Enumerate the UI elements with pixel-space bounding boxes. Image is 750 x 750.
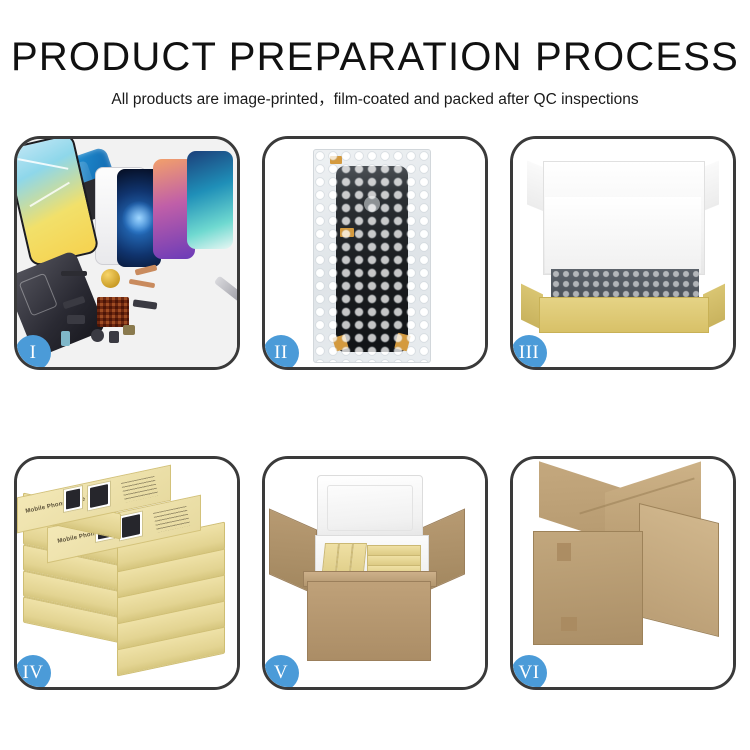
carton-tape-lower <box>561 617 577 631</box>
box-front-yellow <box>539 297 709 333</box>
panel-parts-overview: I <box>14 136 240 370</box>
step-badge-3: III <box>513 335 547 367</box>
part-sim-tray <box>61 331 70 346</box>
tape-middle <box>340 228 354 237</box>
panel-image-carton-with-foam: V <box>265 459 485 687</box>
page-subtitle: All products are image-printed，film-coat… <box>0 87 750 109</box>
tape-bottom-right <box>394 333 410 352</box>
panel-image-open-yellow-box: III <box>513 139 733 367</box>
step-badge-4: IV <box>17 655 51 687</box>
panel-image-stacked-boxes: Mobile Phone Spare Parts Mobile Phone Sp… <box>17 459 237 687</box>
page-title: PRODUCT PREPARATION PROCESS <box>0 36 750 78</box>
box-window-1a <box>63 485 83 513</box>
process-grid: I II <box>14 136 736 690</box>
phone-display-teal-wallpaper <box>187 151 233 249</box>
part-vibrator <box>123 325 135 335</box>
panel-stacked-boxes: Mobile Phone Spare Parts Mobile Phone Sp… <box>14 456 240 690</box>
box-foam-sheet <box>545 197 701 273</box>
step-badge-6: VI <box>513 655 547 687</box>
carton-tape-upper <box>557 543 571 561</box>
step-badge-2: II <box>265 335 299 367</box>
panel-image-sealed-carton: VI <box>513 459 733 687</box>
panel-sealed-carton: VI <box>510 456 736 690</box>
box-window-2b <box>119 510 143 541</box>
carton-right-face <box>639 503 719 637</box>
part-camera-ring <box>91 329 104 342</box>
part-smd-4 <box>109 331 119 343</box>
panel-image-bubble-wrapped-screen: II <box>265 139 485 367</box>
foam-cooler-lid <box>317 475 423 541</box>
header: PRODUCT PREPARATION PROCESS All products… <box>0 0 750 109</box>
panel-bubble-wrapped-screen: II <box>262 136 488 370</box>
tape-top-left <box>330 156 342 164</box>
carton-front-panel <box>307 581 431 661</box>
wrapped-lcd-screen <box>336 166 408 352</box>
step-badge-5: V <box>265 655 299 687</box>
repair-tweezers-icon <box>214 275 237 303</box>
product-preparation-infographic: PRODUCT PREPARATION PROCESS All products… <box>0 0 750 750</box>
bubble-wrap-bag <box>313 149 431 363</box>
panel-carton-with-foam: V <box>262 456 488 690</box>
part-flex-cable-2 <box>129 279 155 288</box>
panel-open-yellow-box: III <box>510 136 736 370</box>
step-badge-1: I <box>17 335 51 367</box>
box-window-1b <box>87 480 111 511</box>
part-smd-3 <box>133 299 158 309</box>
carton-front-face <box>533 531 643 645</box>
panel-image-parts-overview: I <box>17 139 237 367</box>
speaker-module-gold <box>101 269 120 288</box>
part-bar-1 <box>61 271 87 276</box>
part-smd-2 <box>67 315 85 324</box>
logic-board-chip <box>97 297 129 327</box>
